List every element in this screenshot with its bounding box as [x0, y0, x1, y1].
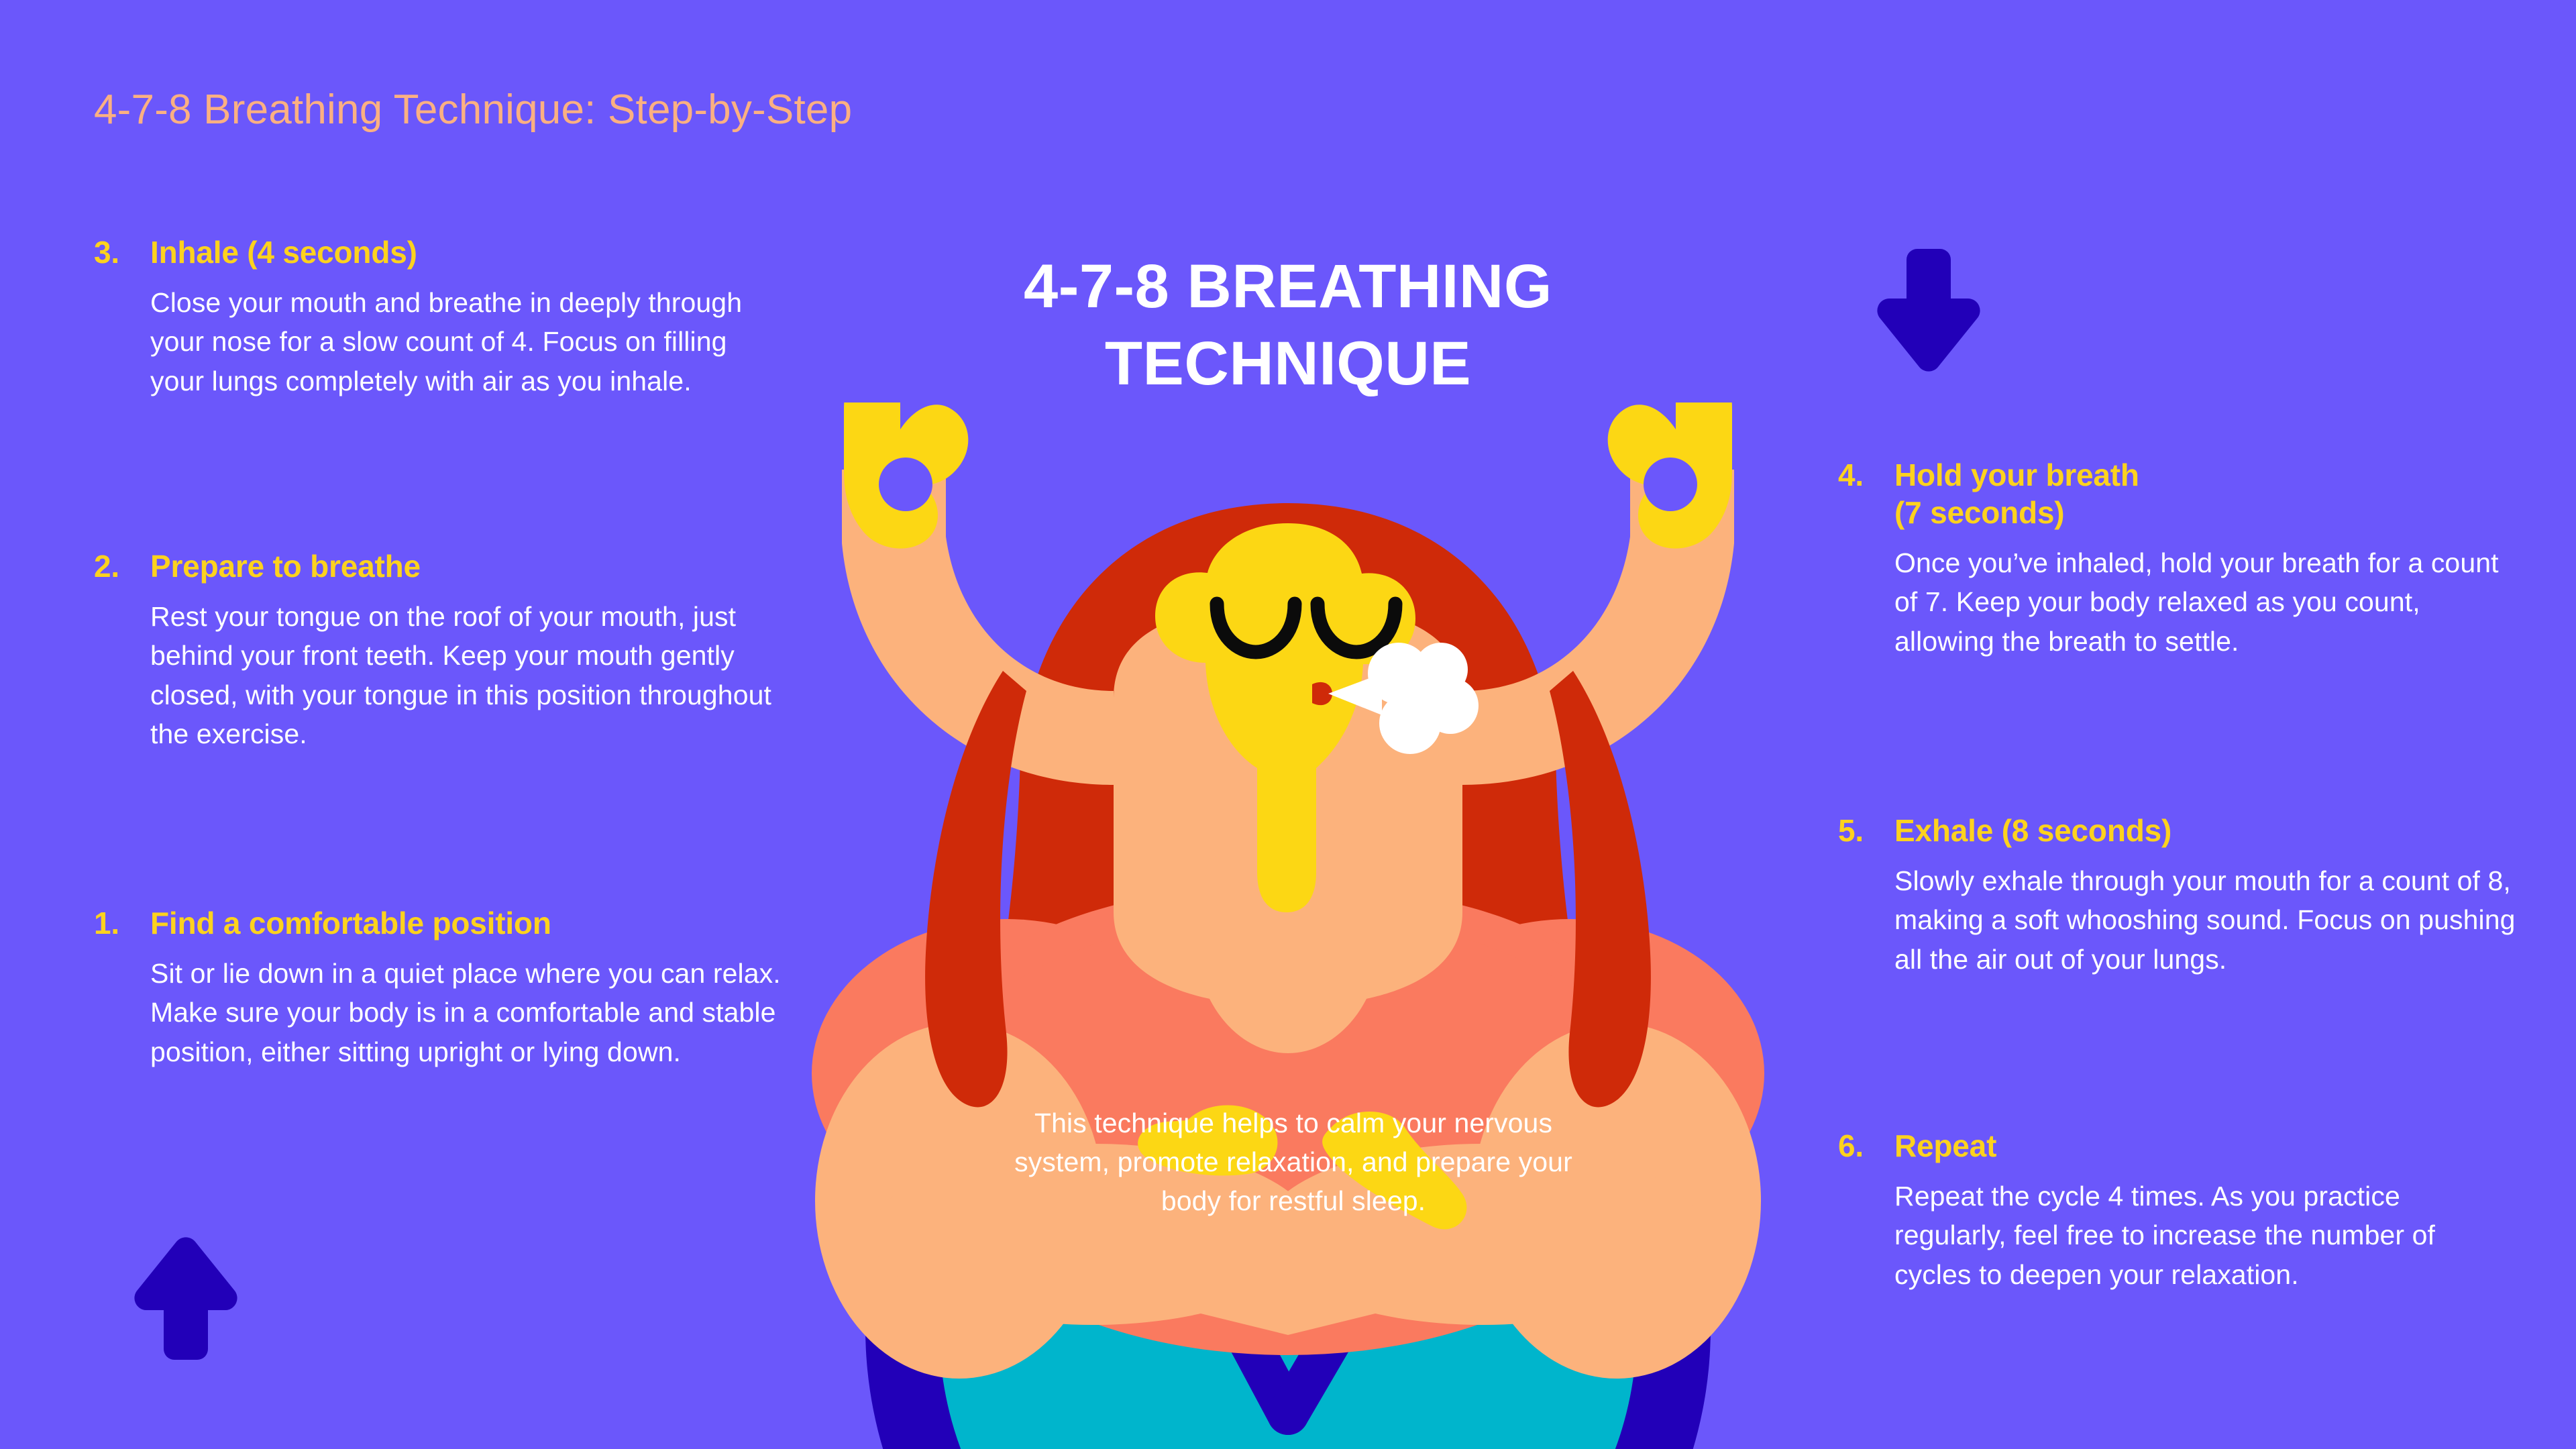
step-4-heading: 4. Hold your breath (7 seconds)	[1838, 456, 2516, 531]
step-1-number: 1.	[94, 904, 150, 942]
clock-caption: This technique helps to calm your nervou…	[1005, 1104, 1582, 1221]
step-5-number: 5.	[1838, 812, 1894, 849]
step-4-number: 4.	[1838, 456, 1894, 494]
arrow-up-icon	[117, 1224, 239, 1371]
step-2-body: Rest your tongue on the roof of your mou…	[150, 597, 771, 753]
step-4-title: Hold your breath (7 seconds)	[1894, 456, 2516, 531]
step-3-body: Close your mouth and breathe in deeply t…	[150, 283, 771, 400]
step-3-number: 3.	[94, 233, 150, 271]
meditating-woman-illustration	[738, 402, 1838, 1449]
step-item-4: 4. Hold your breath (7 seconds) Once you…	[1838, 456, 2516, 661]
step-4-body: Once you’ve inhaled, hold your breath fo…	[1894, 543, 2516, 661]
step-item-5: 5. Exhale (8 seconds) Slowly exhale thro…	[1838, 812, 2516, 979]
step-3-heading: 3. Inhale (4 seconds)	[94, 233, 771, 271]
infographic-page: 4-7-8 Breathing Technique: Step-by-Step …	[0, 0, 2576, 1449]
step-item-6: 6. Repeat Repeat the cycle 4 times. As y…	[1838, 1127, 2516, 1294]
step-5-body: Slowly exhale through your mouth for a c…	[1894, 861, 2516, 979]
step-6-heading: 6. Repeat	[1838, 1127, 2516, 1165]
step-item-3: 3. Inhale (4 seconds) Close your mouth a…	[94, 233, 771, 400]
step-6-number: 6.	[1838, 1127, 1894, 1165]
arrow-down-icon	[1860, 238, 1982, 384]
step-1-heading: 1. Find a comfortable position	[94, 904, 805, 942]
page-title: 4-7-8 Breathing Technique: Step-by-Step	[94, 86, 852, 133]
step-item-1: 1. Find a comfortable position Sit or li…	[94, 904, 805, 1071]
step-2-title: Prepare to breathe	[150, 547, 771, 585]
step-item-2: 2. Prepare to breathe Rest your tongue o…	[94, 547, 771, 753]
step-1-title: Find a comfortable position	[150, 904, 805, 942]
step-5-title: Exhale (8 seconds)	[1894, 812, 2516, 849]
step-6-title: Repeat	[1894, 1127, 2516, 1165]
step-5-heading: 5. Exhale (8 seconds)	[1838, 812, 2516, 849]
step-2-number: 2.	[94, 547, 150, 585]
step-1-body: Sit or lie down in a quiet place where y…	[150, 954, 805, 1071]
step-6-body: Repeat the cycle 4 times. As you practic…	[1894, 1177, 2516, 1294]
step-2-heading: 2. Prepare to breathe	[94, 547, 771, 585]
step-3-title: Inhale (4 seconds)	[150, 233, 771, 271]
center-heading: 4-7-8 BREATHING TECHNIQUE	[892, 248, 1684, 402]
